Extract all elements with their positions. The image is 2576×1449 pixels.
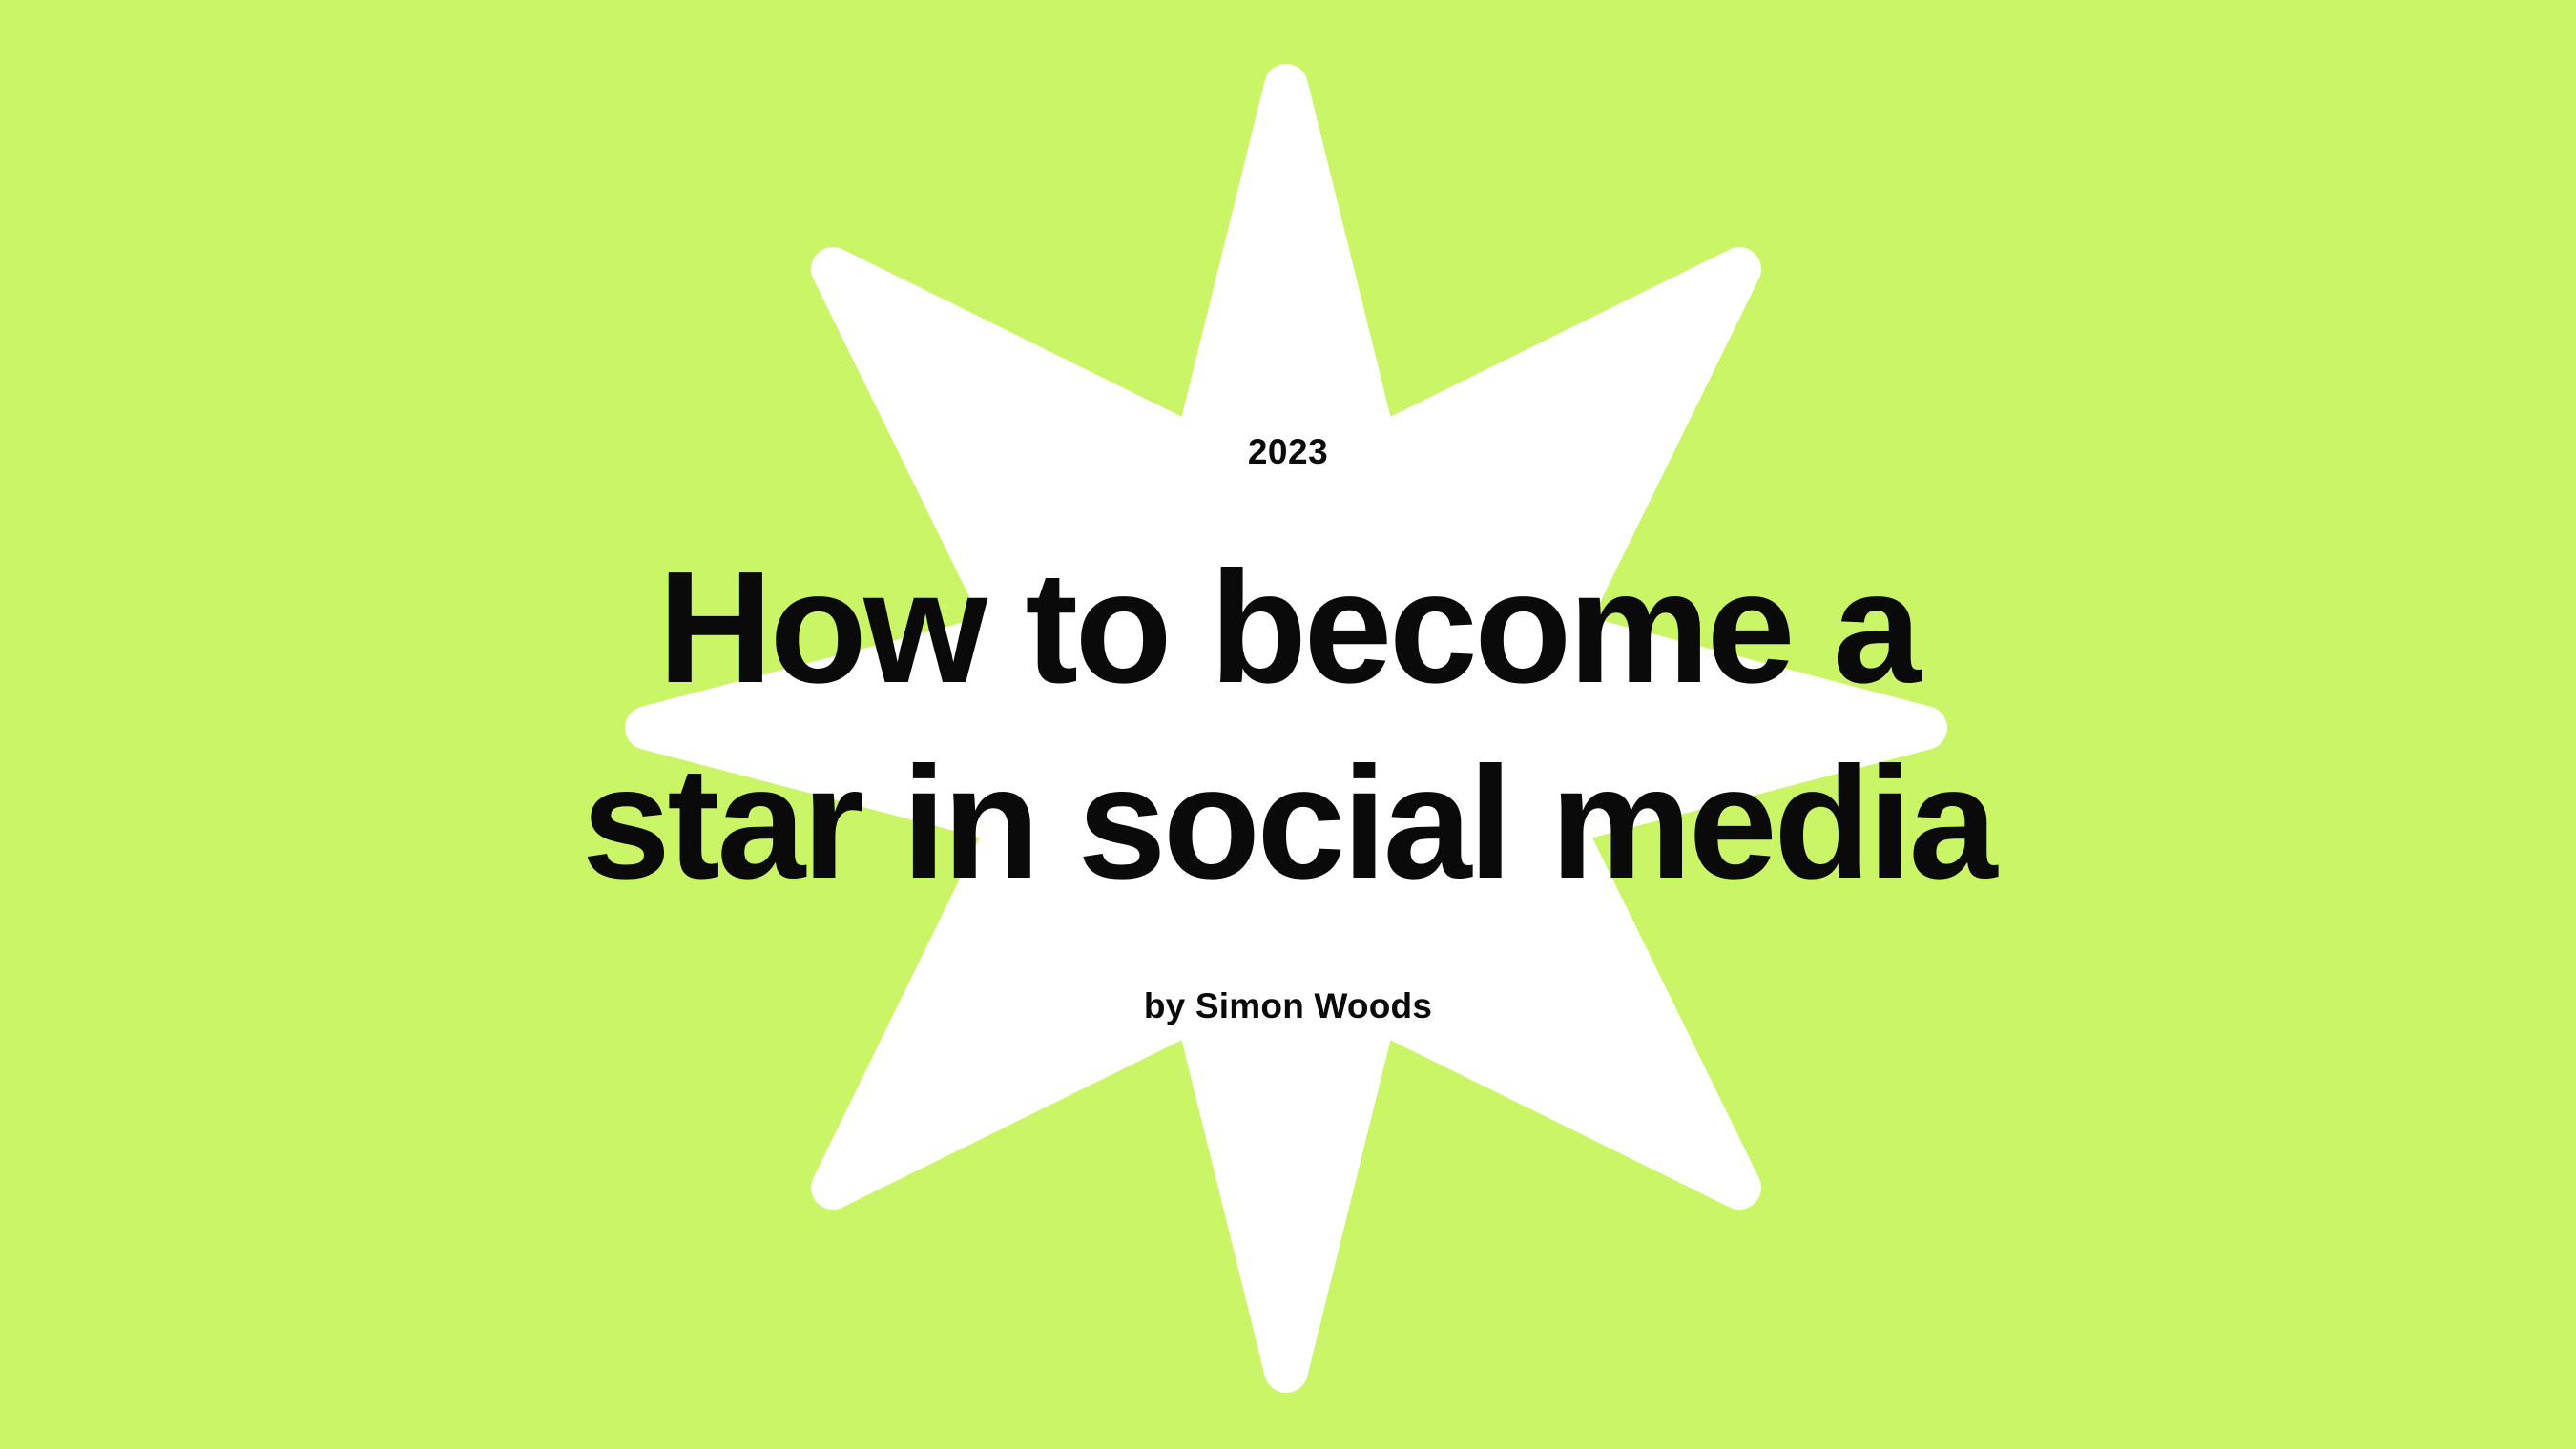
slide-year: 2023 [0, 434, 2576, 469]
presentation-slide: 2023 How to become a star in social medi… [0, 0, 2576, 1449]
slide-title-line-2: star in social media [0, 726, 2576, 921]
slide-title-line-1: How to become a [0, 530, 2576, 726]
slide-byline: by Simon Woods [0, 988, 2576, 1024]
slide-title: How to become a star in social media [0, 530, 2576, 921]
